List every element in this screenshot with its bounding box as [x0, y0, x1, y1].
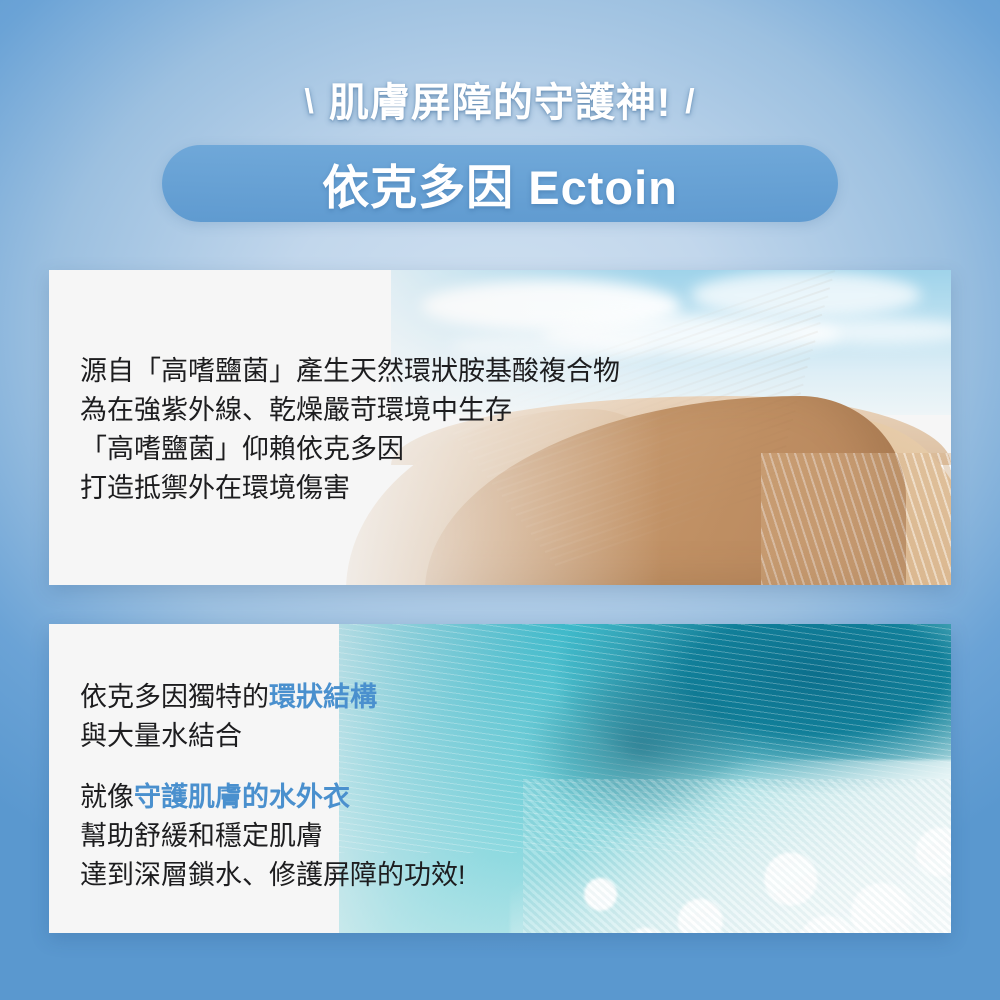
- panel-ocean: 依克多因獨特的環狀結構 與大量水結合 就像守護肌膚的水外衣 幫助舒緩和穩定肌膚 …: [49, 624, 951, 933]
- copy-plain: 幫助舒緩和穩定肌膚: [80, 821, 323, 851]
- copy-line: 達到深層鎖水、修護屏障的功效!: [80, 856, 466, 895]
- product-title: 依克多因 Ectoin: [322, 149, 678, 218]
- copy-accent: 環狀結構: [269, 682, 377, 712]
- copy-plain: 達到深層鎖水、修護屏障的功效!: [80, 860, 466, 890]
- copy-accent: 守護肌膚的水外衣: [134, 782, 350, 812]
- copy-line: 幫助舒緩和穩定肌膚: [80, 817, 466, 856]
- poster-root: \肌膚屏障的守護神!/ 依克多因 Ectoin 源自「高嗜鹽菌」產生天然環狀胺基…: [0, 0, 1000, 1000]
- title-pill: 依克多因 Ectoin: [162, 145, 838, 222]
- panel-desert: 源自「高嗜鹽菌」產生天然環狀胺基酸複合物 為在強紫外線、乾燥嚴苛環境中生存 「高…: [49, 270, 951, 585]
- ocean-copy-block: 依克多因獨特的環狀結構 與大量水結合 就像守護肌膚的水外衣 幫助舒緩和穩定肌膚 …: [80, 678, 466, 895]
- headline: \肌膚屏障的守護神!/: [0, 70, 1000, 128]
- copy-plain: 就像: [80, 782, 134, 812]
- copy-line: 就像守護肌膚的水外衣: [80, 778, 466, 817]
- copy-plain: 與大量水結合: [80, 721, 242, 751]
- copy-line: 依克多因獨特的環狀結構: [80, 678, 466, 717]
- copy-line: 打造抵禦外在環境傷害: [80, 469, 620, 508]
- copy-line: 源自「高嗜鹽菌」產生天然環狀胺基酸複合物: [80, 352, 620, 391]
- copy-line: 「高嗜鹽菌」仰賴依克多因: [80, 430, 620, 469]
- slash-left-icon: \: [304, 83, 314, 122]
- slash-right-icon: /: [685, 83, 695, 122]
- copy-plain: 依克多因獨特的: [80, 682, 269, 712]
- copy-line: 與大量水結合: [80, 717, 466, 756]
- copy-line: 為在強紫外線、乾燥嚴苛環境中生存: [80, 391, 620, 430]
- desert-copy-block: 源自「高嗜鹽菌」產生天然環狀胺基酸複合物 為在強紫外線、乾燥嚴苛環境中生存 「高…: [80, 352, 620, 508]
- headline-text: 肌膚屏障的守護神!: [329, 81, 671, 125]
